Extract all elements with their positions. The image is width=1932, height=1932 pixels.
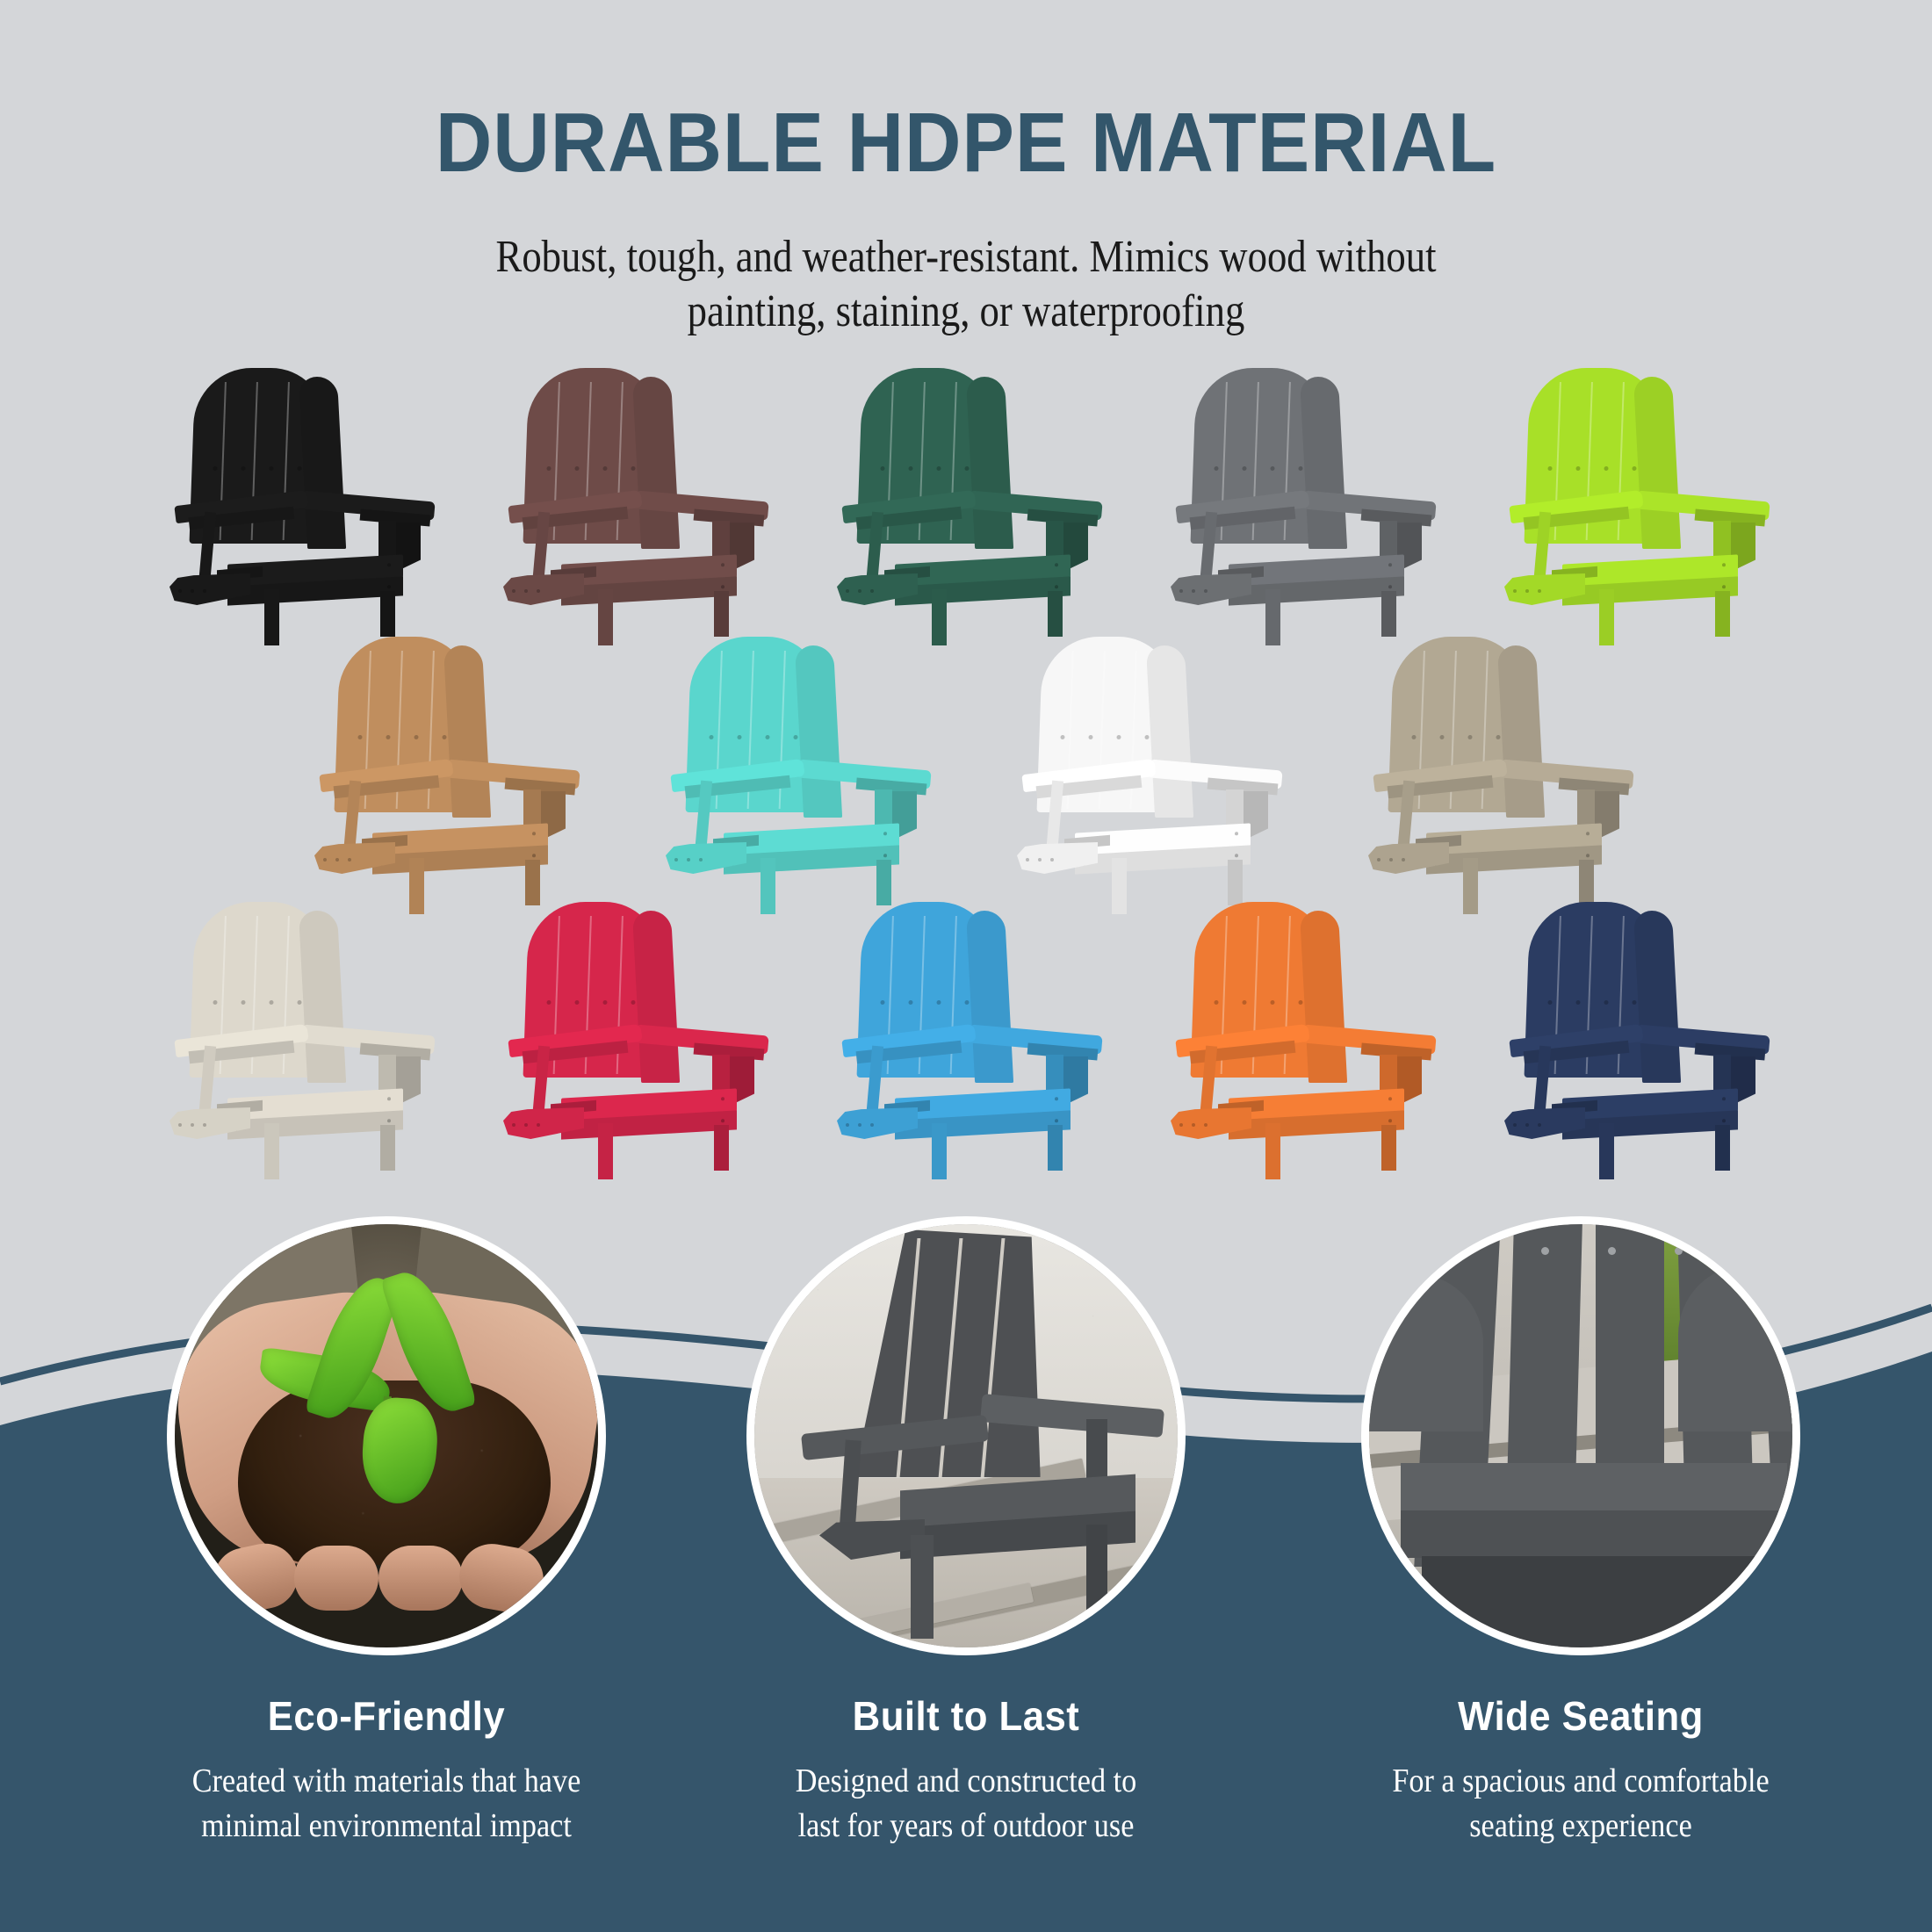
features-section: Eco-Friendly Created with materials that… (0, 1216, 1932, 1932)
feature-desc-line-1: For a spacious and comfortable (1320, 1759, 1842, 1804)
feature-desc-line-2: seating experience (1320, 1804, 1842, 1849)
adirondack-chair-icon (1370, 633, 1633, 914)
adirondack-chair-icon (839, 364, 1102, 645)
feature-built-to-last: Built to Last Designed and constructed t… (676, 1216, 1256, 1849)
subtitle-line-1: Robust, tough, and weather-resistant. Mi… (135, 230, 1797, 285)
subtitle-line-2: painting, staining, or waterproofing (135, 285, 1797, 339)
feature-desc-line-2: minimal environmental impact (126, 1804, 647, 1849)
feature-desc-line-1: Designed and constructed to (705, 1759, 1227, 1804)
adirondack-chair-icon (1172, 364, 1436, 645)
feature-description: For a spacious and comfortable seating e… (1320, 1759, 1842, 1849)
adirondack-chair-icon (1019, 633, 1282, 914)
adirondack-chair-icon (171, 898, 435, 1179)
chair-swatch-teak[interactable] (316, 633, 580, 905)
chair-swatch-beige[interactable] (171, 898, 435, 1179)
page-subtitle: Robust, tough, and weather-resistant. Mi… (135, 230, 1797, 340)
adirondack-chair-icon (505, 364, 768, 645)
chair-swatch-navy-blue[interactable] (1506, 898, 1770, 1179)
chair-row-3 (0, 898, 1932, 1179)
adirondack-chair-icon (505, 898, 768, 1179)
adirondack-chair-icon (839, 898, 1102, 1179)
chair-swatch-turquoise[interactable] (667, 633, 931, 905)
feature-wide-seating: Wide Seating For a spacious and comforta… (1291, 1216, 1871, 1849)
feature-title: Eco-Friendly (112, 1692, 662, 1740)
feature-description: Created with materials that have minimal… (126, 1759, 647, 1849)
chair-swatch-gray[interactable] (1172, 364, 1436, 645)
chair-swatch-white[interactable] (1019, 633, 1282, 905)
chair-row-2 (0, 633, 1932, 905)
chair-swatch-orange[interactable] (1172, 898, 1436, 1179)
adirondack-chair-icon (1172, 898, 1436, 1179)
chair-swatch-red[interactable] (505, 898, 768, 1179)
chair-swatch-khaki[interactable] (1370, 633, 1633, 905)
feature-desc-line-1: Created with materials that have (126, 1759, 647, 1804)
chair-wide-seat-closeup-photo (1361, 1216, 1800, 1655)
chair-color-grid (0, 364, 1932, 1179)
infographic-page: DURABLE HDPE MATERIAL Robust, tough, and… (0, 0, 1932, 1932)
feature-eco-friendly: Eco-Friendly Created with materials that… (97, 1216, 676, 1849)
hands-holding-seedling-photo (167, 1216, 606, 1655)
gray-adirondack-chair-on-patio-photo (746, 1216, 1186, 1655)
adirondack-chair-icon (171, 364, 435, 645)
adirondack-chair-icon (316, 633, 580, 914)
chair-swatch-black[interactable] (171, 364, 435, 645)
adirondack-chair-icon (1506, 898, 1770, 1179)
feature-title: Built to Last (691, 1692, 1242, 1740)
chair-swatch-dark-green[interactable] (839, 364, 1102, 645)
chair-swatch-light-blue[interactable] (839, 898, 1102, 1179)
adirondack-chair-icon (667, 633, 931, 914)
adirondack-chair-icon (1506, 364, 1770, 645)
feature-title: Wide Seating (1306, 1692, 1856, 1740)
chair-swatch-brown[interactable] (505, 364, 768, 645)
chair-row-1 (0, 364, 1932, 645)
chair-swatch-lime-green[interactable] (1506, 364, 1770, 645)
feature-description: Designed and constructed to last for yea… (705, 1759, 1227, 1849)
feature-desc-line-2: last for years of outdoor use (705, 1804, 1227, 1849)
page-title: DURABLE HDPE MATERIAL (68, 95, 1864, 191)
